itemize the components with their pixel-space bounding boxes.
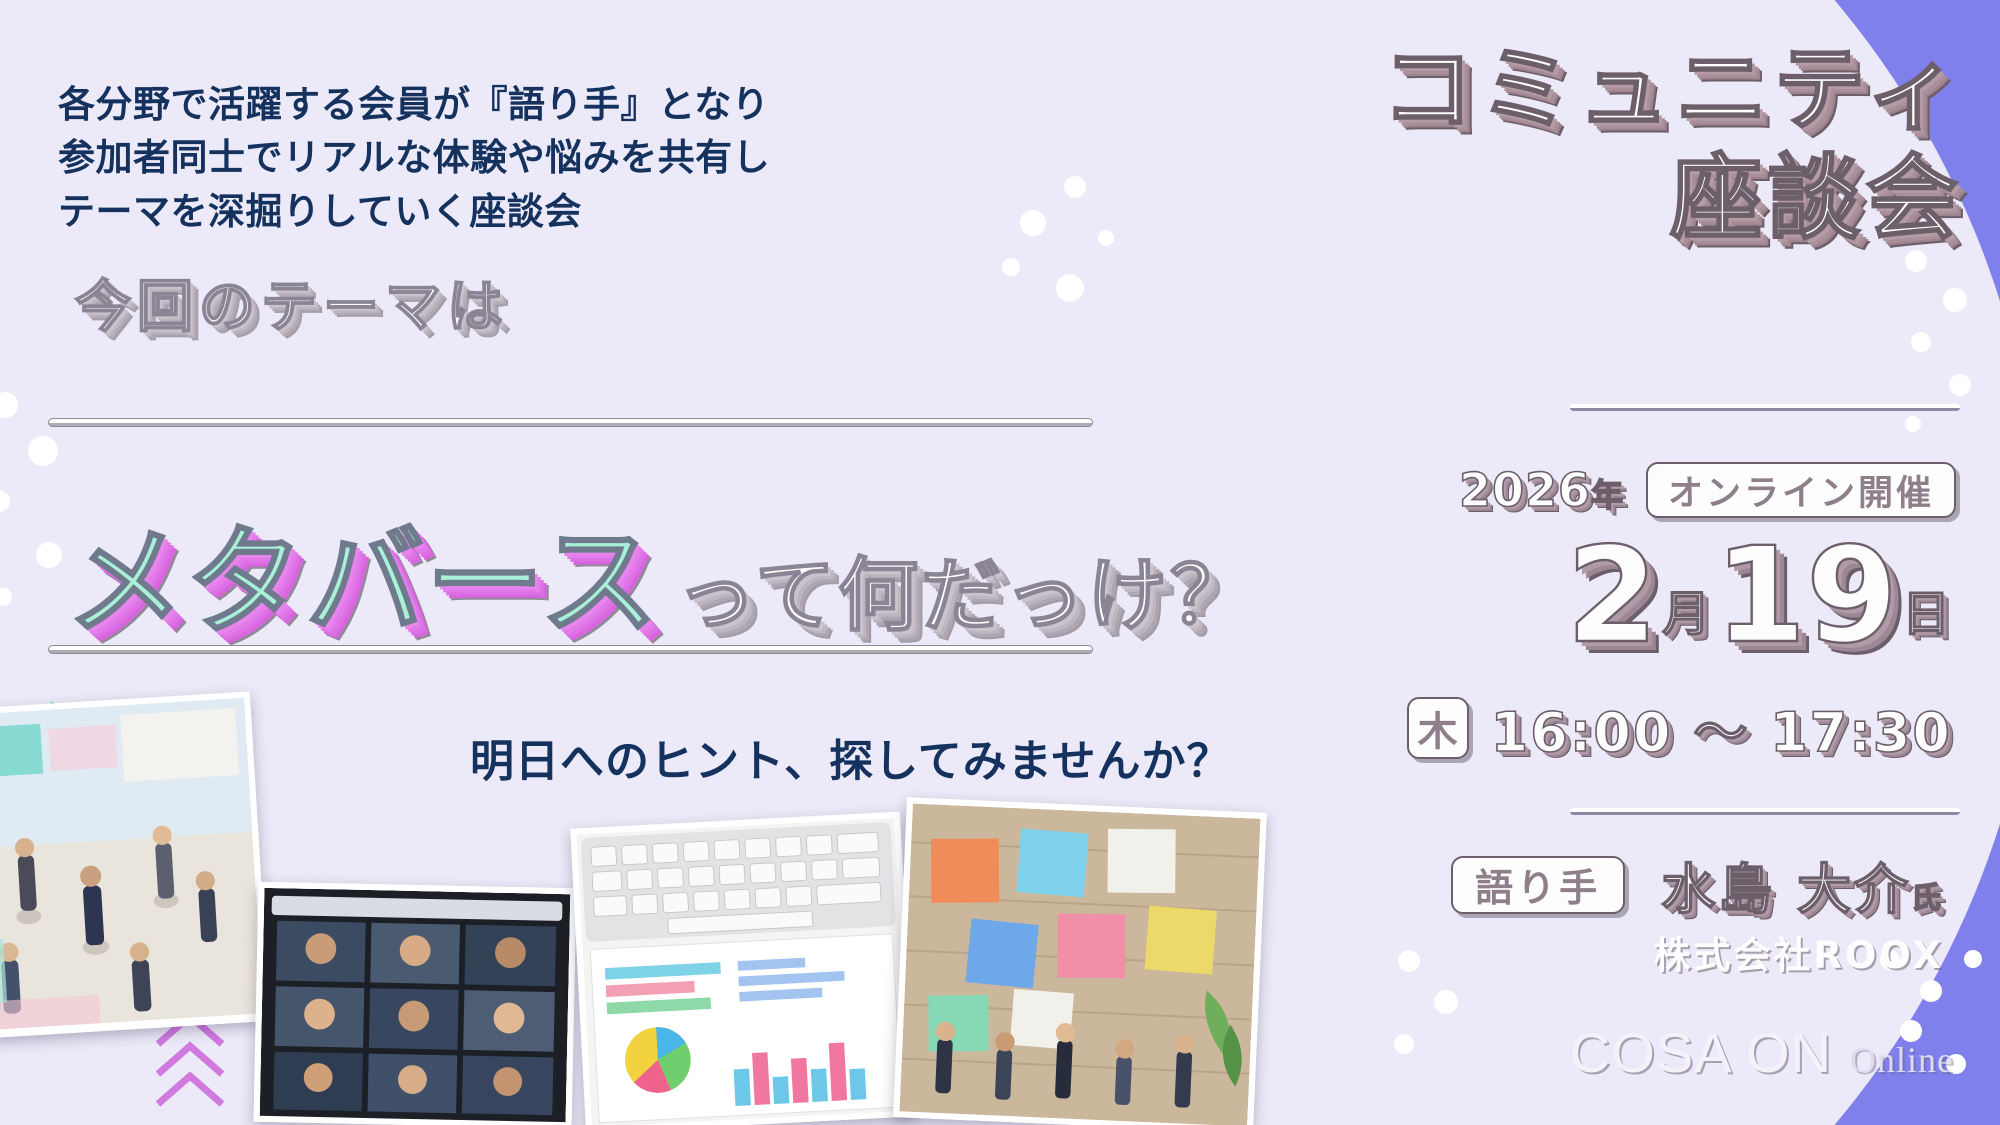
speaker-row: 語り手 水島 大介氏 — [1451, 845, 1944, 924]
panel-divider-top — [1570, 404, 1960, 411]
event-month: 2 — [1566, 530, 1658, 662]
speaker-name: 水島 大介氏 — [1661, 845, 1944, 924]
event-date-row: 2 月 19 日 — [1566, 530, 1950, 662]
year-row: 2026年 オンライン開催 — [1459, 462, 1956, 518]
speaker-org: 株式会社ROOX — [1653, 925, 1944, 979]
event-time-row: 木 16:00 〜 17:30 — [1407, 688, 1952, 767]
lead-copy: 各分野で活躍する会員が『語り手』となり 参加者同士でリアルな体験や悩みを共有し … — [58, 78, 770, 238]
tagline: 明日へのヒント、探してみませんか？ — [470, 725, 1231, 789]
photo-metaverse-figures — [0, 691, 270, 1038]
panel-title: コミュニティ 座談会 — [1382, 36, 1964, 253]
panel-divider-bottom — [1570, 808, 1960, 815]
headline-question: って何だっけ？ — [676, 549, 1253, 642]
divider-above-headline — [48, 418, 1093, 427]
event-poster: 各分野で活躍する会員が『語り手』となり 参加者同士でリアルな体験や悩みを共有し … — [0, 0, 2000, 1125]
event-month-unit: 月 — [1662, 574, 1710, 662]
event-time: 16:00 〜 17:30 — [1491, 688, 1952, 767]
photo-sticky-notes-workshop — [893, 797, 1267, 1125]
event-day-unit: 日 — [1902, 574, 1950, 662]
theme-label: 今回のテーマは — [75, 262, 509, 343]
headline-keyword: メタバース — [66, 513, 660, 651]
online-badge: オンライン開催 — [1646, 462, 1956, 518]
photo-keyboard-charts — [570, 812, 916, 1125]
panel-title-line-2: 座談会 — [1382, 145, 1964, 254]
weekday-badge: 木 — [1407, 697, 1469, 759]
event-year: 2026年 — [1459, 463, 1624, 517]
lead-line-2: 参加者同士でリアルな体験や悩みを共有し — [58, 131, 770, 184]
panel-title-line-1: コミュニティ — [1382, 36, 1964, 145]
headline: メタバースって何だっけ？ — [66, 486, 1253, 657]
lead-line-1: 各分野で活躍する会員が『語り手』となり — [58, 78, 770, 131]
photo-video-meeting — [254, 882, 577, 1125]
brand-logo-main: COSA ON — [1570, 1020, 1832, 1085]
lead-line-3: テーマを深掘りしていく座談会 — [58, 185, 770, 238]
event-day: 19 — [1714, 530, 1898, 662]
brand-logo: COSA ON Online — [1570, 1020, 1954, 1085]
brand-logo-sub: Online — [1850, 1039, 1954, 1081]
speaker-badge: 語り手 — [1451, 856, 1625, 914]
